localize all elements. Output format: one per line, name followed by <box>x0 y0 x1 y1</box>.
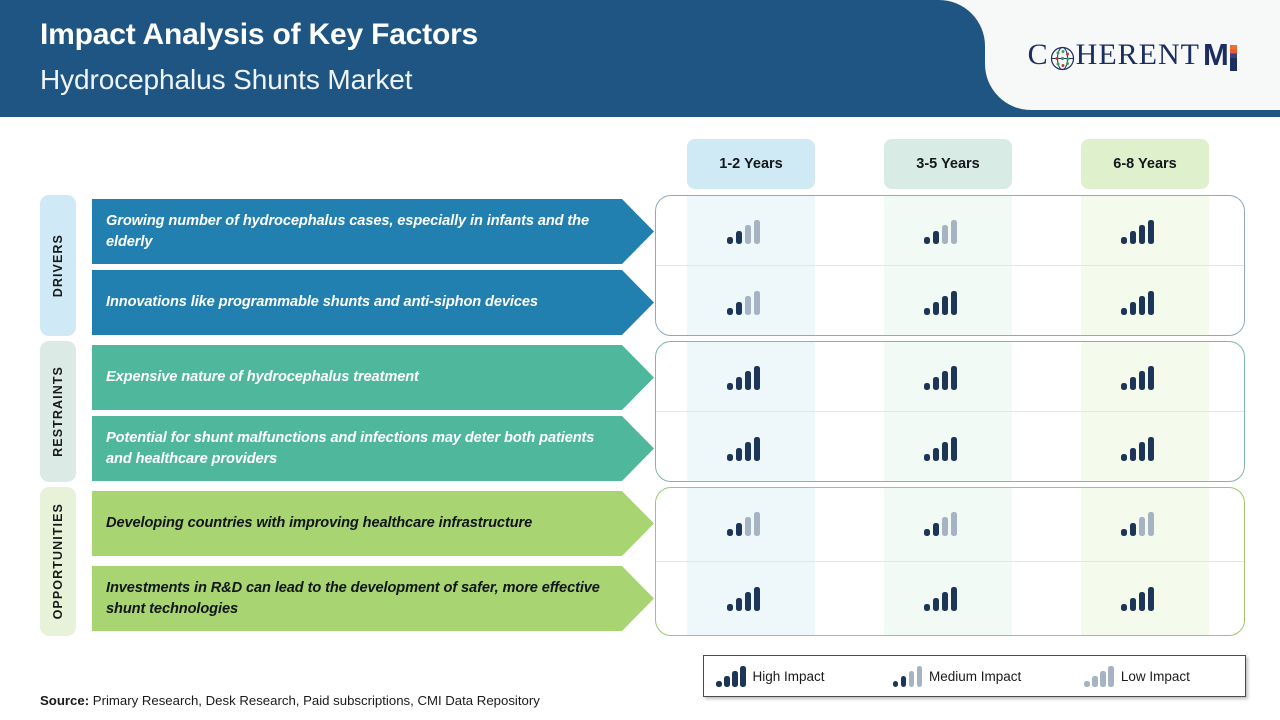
factor-arrow: Potential for shunt malfunctions and inf… <box>92 416 654 481</box>
impact-bars-high <box>1121 366 1154 390</box>
impact-bars-high <box>1121 220 1154 244</box>
legend-item-high: High Impact <box>716 666 825 687</box>
globe-icon <box>1050 46 1075 71</box>
column-header-6-8-years: 6-8 Years <box>1081 139 1209 189</box>
logo-notch-shape <box>939 0 985 46</box>
legend-label: Medium Impact <box>929 669 1021 684</box>
table-row: Developing countries with improving heal… <box>0 491 1280 556</box>
table-row: Innovations like programmable shunts and… <box>0 270 1280 335</box>
logo-plate: C <box>985 0 1280 110</box>
legend-label: Low Impact <box>1121 669 1190 684</box>
header-titles: Impact Analysis of Key Factors Hydroceph… <box>40 12 478 102</box>
logo-i-accent-icon <box>1230 45 1237 71</box>
factor-text: Developing countries with improving heal… <box>106 513 532 534</box>
impact-bars-high <box>924 437 957 461</box>
column-header-3-5-years: 3-5 Years <box>884 139 1012 189</box>
impact-bars-low <box>727 512 760 536</box>
factor-text: Potential for shunt malfunctions and inf… <box>106 428 608 470</box>
table-row: Expensive nature of hydrocephalus treatm… <box>0 345 1280 410</box>
logo-text-m: M <box>1203 37 1228 73</box>
legend-item-low: Low Impact <box>1084 666 1190 687</box>
factor-arrow: Developing countries with improving heal… <box>92 491 654 556</box>
page-title: Impact Analysis of Key Factors <box>40 12 478 58</box>
column-headers: 1-2 Years 3-5 Years 6-8 Years <box>0 139 1280 189</box>
impact-bars-high <box>924 291 957 315</box>
column-header-1-2-years: 1-2 Years <box>687 139 815 189</box>
impact-bars-high <box>727 437 760 461</box>
impact-bars-low <box>924 512 957 536</box>
impact-bars-low <box>1121 512 1154 536</box>
impact-bars-high <box>1121 437 1154 461</box>
high-impact-icon <box>716 666 746 687</box>
impact-bars-low <box>727 291 760 315</box>
legend-item-medium: Medium Impact <box>893 666 1022 687</box>
source-label: Source: <box>40 693 89 708</box>
factor-arrow: Investments in R&D can lead to the devel… <box>92 566 654 631</box>
impact-bars-high <box>1121 291 1154 315</box>
impact-bars-high <box>727 366 760 390</box>
impact-bars-high <box>924 587 957 611</box>
factor-text: Investments in R&D can lead to the devel… <box>106 578 608 620</box>
row-separator <box>656 411 1244 412</box>
row-separator <box>656 265 1244 266</box>
factor-arrow: Expensive nature of hydrocephalus treatm… <box>92 345 654 410</box>
logo-letter-c: C <box>1028 38 1049 72</box>
factor-arrow: Innovations like programmable shunts and… <box>92 270 654 335</box>
table-row: Investments in R&D can lead to the devel… <box>0 566 1280 631</box>
impact-bars-high <box>924 366 957 390</box>
table-row: Potential for shunt malfunctions and inf… <box>0 416 1280 481</box>
factor-arrow: Growing number of hydrocephalus cases, e… <box>92 199 654 264</box>
group-opportunities: OPPORTUNITIES Developing countries with … <box>0 487 1280 636</box>
low-impact-icon <box>1084 666 1114 687</box>
row-separator <box>656 561 1244 562</box>
impact-bars-high <box>1121 587 1154 611</box>
legend-label: High Impact <box>753 669 825 684</box>
table-row: Growing number of hydrocephalus cases, e… <box>0 199 1280 264</box>
legend: High Impact Medium Impact Low Impact <box>703 655 1246 697</box>
factor-text: Growing number of hydrocephalus cases, e… <box>106 211 608 253</box>
source-text: Primary Research, Desk Research, Paid su… <box>89 693 540 708</box>
group-drivers: DRIVERS Growing number of hydrocephalus … <box>0 195 1280 336</box>
logo-text-herent: HERENT <box>1076 38 1200 72</box>
factor-text: Expensive nature of hydrocephalus treatm… <box>106 367 419 388</box>
impact-bars-high <box>727 587 760 611</box>
impact-bars-low <box>924 220 957 244</box>
factor-text: Innovations like programmable shunts and… <box>106 292 538 313</box>
page-subtitle: Hydrocephalus Shunts Market <box>40 58 478 102</box>
brand-logo: C <box>985 0 1280 110</box>
medium-impact-icon <box>893 666 923 687</box>
source-note: Source: Primary Research, Desk Research,… <box>40 693 540 708</box>
impact-bars-low <box>727 220 760 244</box>
page-header: Impact Analysis of Key Factors Hydroceph… <box>0 0 1280 117</box>
infographic-page: Impact Analysis of Key Factors Hydroceph… <box>0 0 1280 720</box>
group-restraints: RESTRAINTS Expensive nature of hydroceph… <box>0 341 1280 482</box>
